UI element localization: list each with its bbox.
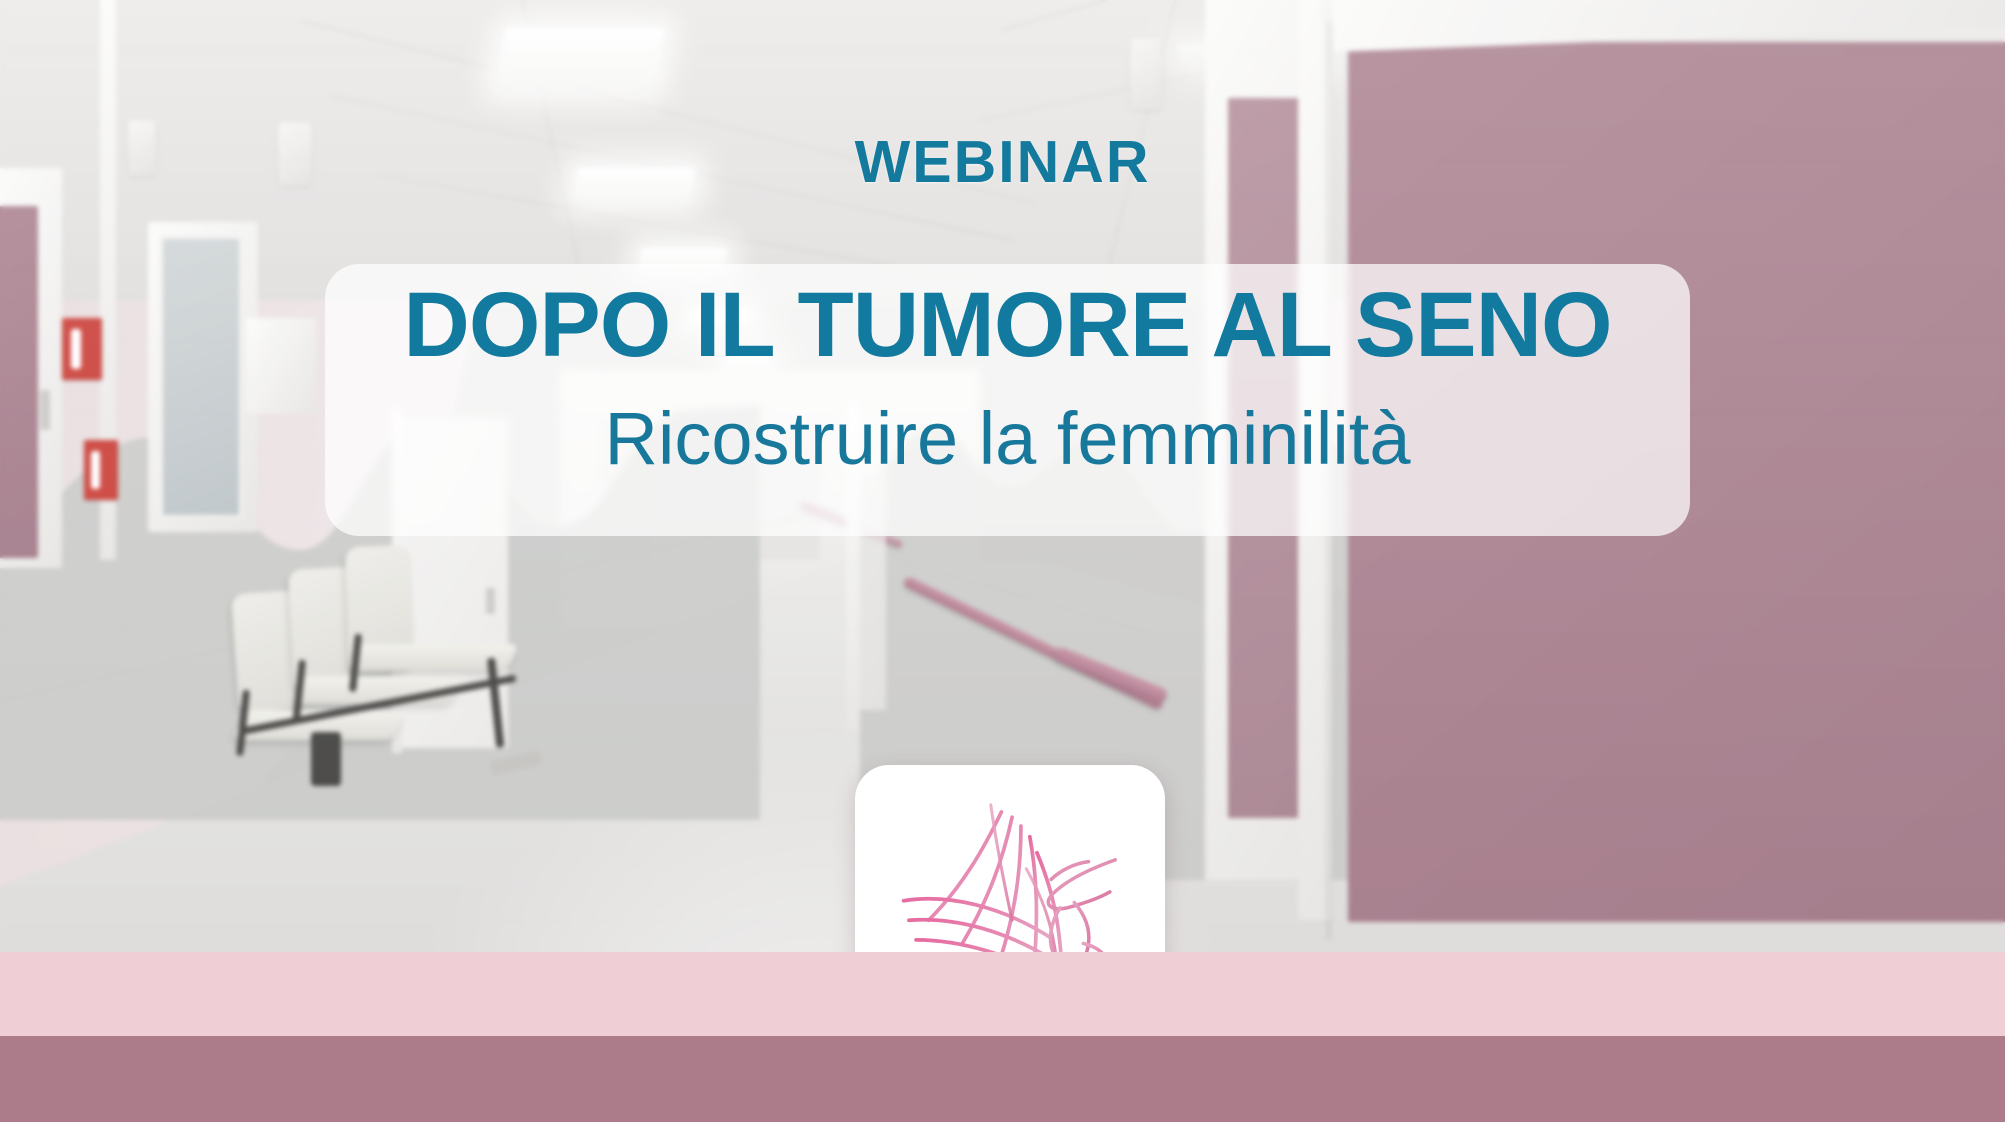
bottom-band-light xyxy=(0,952,2005,1036)
page-subtitle: Ricostruire la femminilità xyxy=(325,398,1690,481)
bottom-band-dark xyxy=(0,1036,2005,1122)
webinar-poster: WEBINAR DOPO IL TUMORE AL SENO Ricostrui… xyxy=(0,0,2005,1122)
page-title: DOPO IL TUMORE AL SENO xyxy=(325,276,1690,375)
kicker-label: WEBINAR xyxy=(0,128,2005,196)
